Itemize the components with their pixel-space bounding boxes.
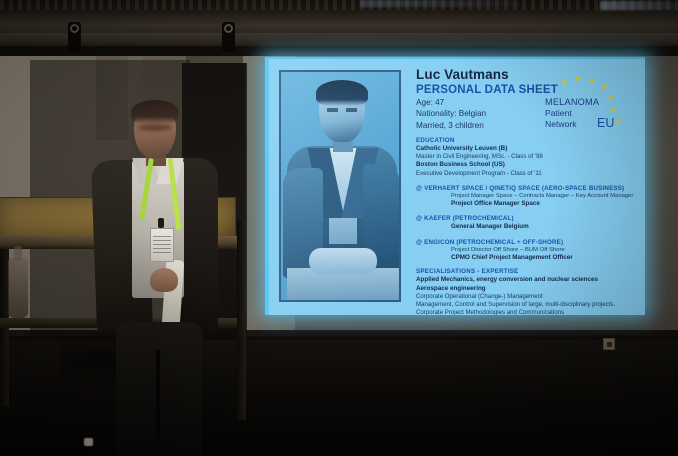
melanoma-patient-network-eu-logo: ★ ★ ★ ★ ★ ★ ★ MELANOMA Patient Network E… — [545, 79, 637, 137]
experience-highlight-1: Project Office Manager Space — [451, 200, 637, 208]
face-shadow — [138, 124, 172, 131]
presenter-hand — [150, 268, 178, 292]
specialisation-item-3: Corporate Project Methodologies and Comm… — [416, 309, 637, 315]
experience-highlight-3: CPMO Chief Project Management Officer — [451, 254, 637, 262]
education-school-1: Catholic University Leuven (B) — [416, 145, 637, 153]
portrait-hands — [309, 248, 377, 274]
specialisation-item-2: Management, Control and Supervision of l… — [416, 301, 637, 309]
hair — [131, 100, 179, 124]
experience-company-3: @ ENGICON (PETROCHEMICAL + OFF-SHORE) — [416, 239, 637, 246]
logo-line-melanoma: MELANOMA — [545, 97, 599, 107]
ceiling-light-reflection-right — [600, 1, 678, 10]
eu-star-icon: ★ — [601, 84, 607, 91]
experience-roles-1: Project Manager Space – Contracts Manage… — [451, 193, 637, 201]
experience-highlight-2: General Manager Belgium — [451, 223, 637, 231]
name-badge-text-lines — [153, 236, 171, 256]
ceiling — [0, 0, 678, 34]
logo-line-patient: Patient — [545, 108, 572, 118]
presenter — [88, 100, 228, 456]
specialisation-item-1: Corporate Operational (Change-) Manageme… — [416, 293, 637, 301]
eu-star-icon: ★ — [589, 78, 595, 85]
education-heading: EDUCATION — [416, 137, 637, 144]
experience-company-1: @ VERHAERT SPACE / QINETIQ SPACE (AERO-S… — [416, 185, 637, 192]
wall-socket — [603, 338, 615, 350]
slide-content: Luc Vautmans PERSONAL DATA SHEET Age: 47… — [273, 61, 637, 311]
portrait-hair — [316, 80, 368, 106]
experience-company-2: @ KAEFER (PETROCHEMICAL) — [416, 215, 637, 222]
education-detail-2: Executive Development Program - Class of… — [416, 170, 637, 178]
portrait-eyes — [327, 108, 357, 112]
education-detail-1: Master in Civil Engineering, MSc. - Clas… — [416, 153, 637, 161]
eu-star-icon: ★ — [615, 119, 621, 126]
portrait-photo — [279, 70, 401, 302]
eu-star-icon: ★ — [575, 76, 581, 83]
conference-room-photo: Luc Vautmans PERSONAL DATA SHEET Age: 47… — [0, 0, 678, 456]
projected-slide: Luc Vautmans PERSONAL DATA SHEET Age: 47… — [265, 57, 645, 315]
eu-star-icon: ★ — [608, 95, 614, 102]
specialisations-heading: SPECIALISATIONS - EXPERTISE — [416, 268, 637, 275]
logo-eu-label: EU — [597, 116, 614, 130]
beam-hanger-bracket-right — [222, 22, 235, 52]
table-leg-right — [237, 220, 246, 420]
trouser-leg-divide — [156, 350, 160, 450]
experience-roles-3: Project Director Off Shore – BUM Off Sho… — [451, 247, 637, 255]
eu-star-icon: ★ — [561, 79, 567, 86]
logo-line-network: Network — [545, 119, 577, 129]
lanyard-clip — [158, 218, 164, 228]
education-school-2: Boston Business School (US) — [416, 161, 637, 169]
specialisation-bold-1: Applied Mechanics, energy conversion and… — [416, 276, 637, 284]
ceiling-slats — [0, 0, 678, 10]
eu-star-icon: ★ — [610, 107, 616, 114]
specialisation-bold-2: Aerospace engineering — [416, 285, 637, 293]
shoe — [128, 440, 172, 454]
ceiling-light-reflection-center — [360, 0, 520, 7]
bottle — [8, 258, 28, 318]
beam-hanger-bracket-left — [68, 22, 81, 52]
